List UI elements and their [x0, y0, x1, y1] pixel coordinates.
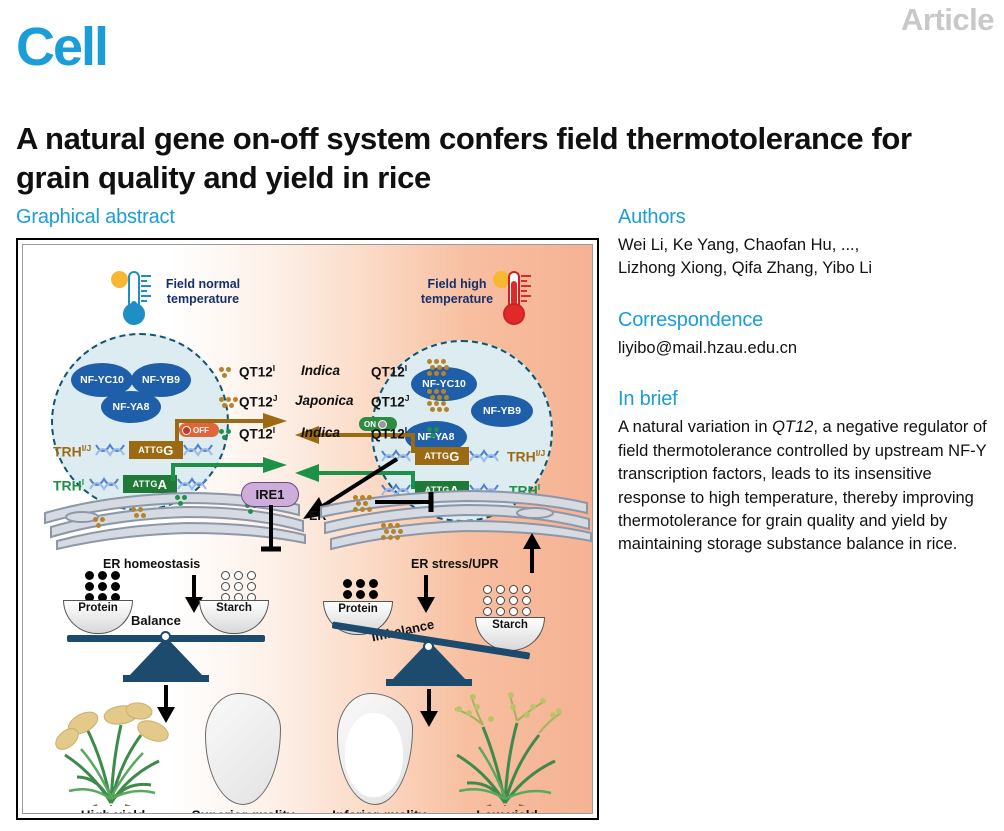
trh-label-ij-left: TRHI/J: [53, 443, 91, 460]
outcome-label-low-yield: Low yield: [455, 808, 559, 814]
balance-state-label-left: Balance: [131, 613, 181, 628]
pan-starch-left: Starch: [199, 600, 269, 634]
dna-wave-icon: [95, 441, 129, 459]
outcome-label-high-yield: High yield: [57, 808, 169, 814]
authors-block: Authors Wei Li, Ke Yang, Chaofan Hu, ...…: [618, 206, 988, 281]
er-stress-upr-label: ER stress/UPR: [411, 557, 499, 571]
in-brief-block: In brief A natural variation in QT12, a …: [618, 388, 988, 557]
up-arrow-icon: [521, 533, 543, 575]
in-brief-suffix: , a negative regulator of field thermoto…: [618, 418, 987, 553]
species-label-row1: Indica: [301, 363, 340, 378]
in-brief-prefix: A natural variation in: [618, 418, 772, 436]
metadata-column: Authors Wei Li, Ke Yang, Chaofan Hu, ...…: [618, 206, 988, 557]
species-label-row3: Indica: [301, 425, 340, 440]
er-homeostasis-label: ER homeostasis: [103, 557, 200, 571]
qt12-label-left-row3: QT12I: [239, 425, 275, 442]
balance-pivot-right: [423, 641, 434, 652]
grain-superior-quality: [205, 693, 281, 805]
motif-attgg: ATTGG: [415, 447, 469, 465]
protein-nf-ya8: NF-YA8: [101, 391, 161, 423]
authors-heading: Authors: [618, 206, 988, 229]
qt12-label-left-row1: QT12I: [239, 363, 275, 380]
rice-plant-low-yield: [441, 683, 569, 806]
field-high-temperature-label: Field high temperature: [411, 277, 503, 307]
field-normal-temperature-label: Field normal temperature: [151, 277, 255, 307]
in-brief-text: A natural variation in QT12, a negative …: [618, 416, 988, 557]
pan-protein-left: Protein: [63, 600, 133, 634]
page-title: A natural gene on-off system confers fie…: [16, 119, 976, 198]
down-arrow-icon: [415, 575, 437, 615]
graphical-abstract-figure: Field normal temperature Field high temp…: [16, 238, 599, 820]
in-brief-heading: In brief: [618, 388, 988, 411]
correspondence-heading: Correspondence: [618, 309, 988, 332]
down-arrow-icon: [418, 689, 440, 729]
qt12-label-left-row2: QT12J: [239, 393, 278, 410]
graphical-abstract-heading: Graphical abstract: [16, 206, 175, 229]
journal-logo: Cell: [16, 20, 107, 74]
thermometer-cold-icon: [121, 271, 147, 329]
inhibition-connector-horizontal: [369, 491, 447, 513]
chalky-region: [345, 713, 403, 797]
species-label-row2: Japonica: [295, 393, 354, 408]
qt12-label-right-row2: QT12J: [371, 393, 410, 410]
authors-line-2: Lizhong Xiong, Qifa Zhang, Yibo Li: [618, 257, 988, 280]
in-brief-gene-name: QT12: [772, 418, 813, 436]
correspondence-email[interactable]: liyibo@mail.hzau.edu.cn: [618, 337, 988, 360]
protein-nf-yb9: NF-YB9: [471, 395, 533, 427]
thermometer-hot-icon: [501, 271, 527, 329]
outcome-label-superior-quality: Superior quality: [191, 808, 295, 814]
balance-fulcrum-left: [128, 637, 204, 677]
inhibition-connector-vertical: [257, 505, 287, 561]
transcription-arrow-green: [169, 453, 293, 483]
balance-pivot-left: [160, 631, 171, 642]
dna-wave-icon: [469, 447, 503, 465]
graphical-abstract-canvas: Field normal temperature Field high temp…: [22, 244, 593, 814]
qt12-label-right-row3: QT12I: [371, 425, 407, 442]
article-type-label: Article: [901, 2, 994, 38]
er-network-right: [315, 483, 593, 551]
ire1-node: IRE1: [241, 482, 299, 507]
authors-line-1: Wei Li, Ke Yang, Chaofan Hu, ...,: [618, 234, 988, 257]
outcome-label-inferior-quality: Inferior quality: [327, 808, 431, 814]
correspondence-block: Correspondence liyibo@mail.hzau.edu.cn: [618, 309, 988, 360]
trh-label-ij-right: TRHI/J: [507, 448, 545, 465]
qt12-label-right-row1: QT12I: [371, 363, 407, 380]
rice-plant-high-yield: [47, 681, 177, 806]
